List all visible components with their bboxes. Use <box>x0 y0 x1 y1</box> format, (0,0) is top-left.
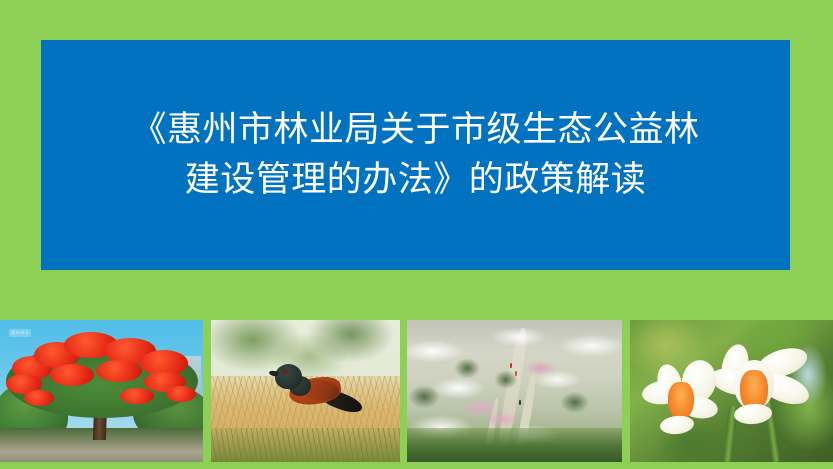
hiker <box>515 371 517 376</box>
photo-watermark: 惠州林业 <box>9 329 31 337</box>
bird-head <box>275 364 302 389</box>
photo-blossom-hillside <box>407 320 622 462</box>
blossom-cluster <box>120 388 154 404</box>
blossom-cluster <box>96 360 142 382</box>
foreground-foliage <box>407 428 622 462</box>
hiker <box>510 363 512 368</box>
photo-white-orchid <box>630 320 833 462</box>
photo-strip: 惠州林业 <box>0 320 833 462</box>
blossom-cluster <box>166 386 196 402</box>
title-panel: 《惠州市林业局关于市级生态公益林 建设管理的办法》的政策解读 <box>41 40 790 270</box>
orchid-lip <box>668 382 694 420</box>
page-title: 《惠州市林业局关于市级生态公益林 建设管理的办法》的政策解读 <box>131 105 699 205</box>
green-grass <box>211 428 400 462</box>
photo-coucal-bird <box>211 320 400 462</box>
bird-eye <box>283 370 287 374</box>
photo-flame-tree: 惠州林业 <box>0 320 203 462</box>
hiker <box>519 400 521 405</box>
blossom-cluster <box>50 364 94 386</box>
presentation-slide: 《惠州市林业局关于市级生态公益林 建设管理的办法》的政策解读 <box>0 0 833 469</box>
blossom-cluster <box>24 390 54 406</box>
